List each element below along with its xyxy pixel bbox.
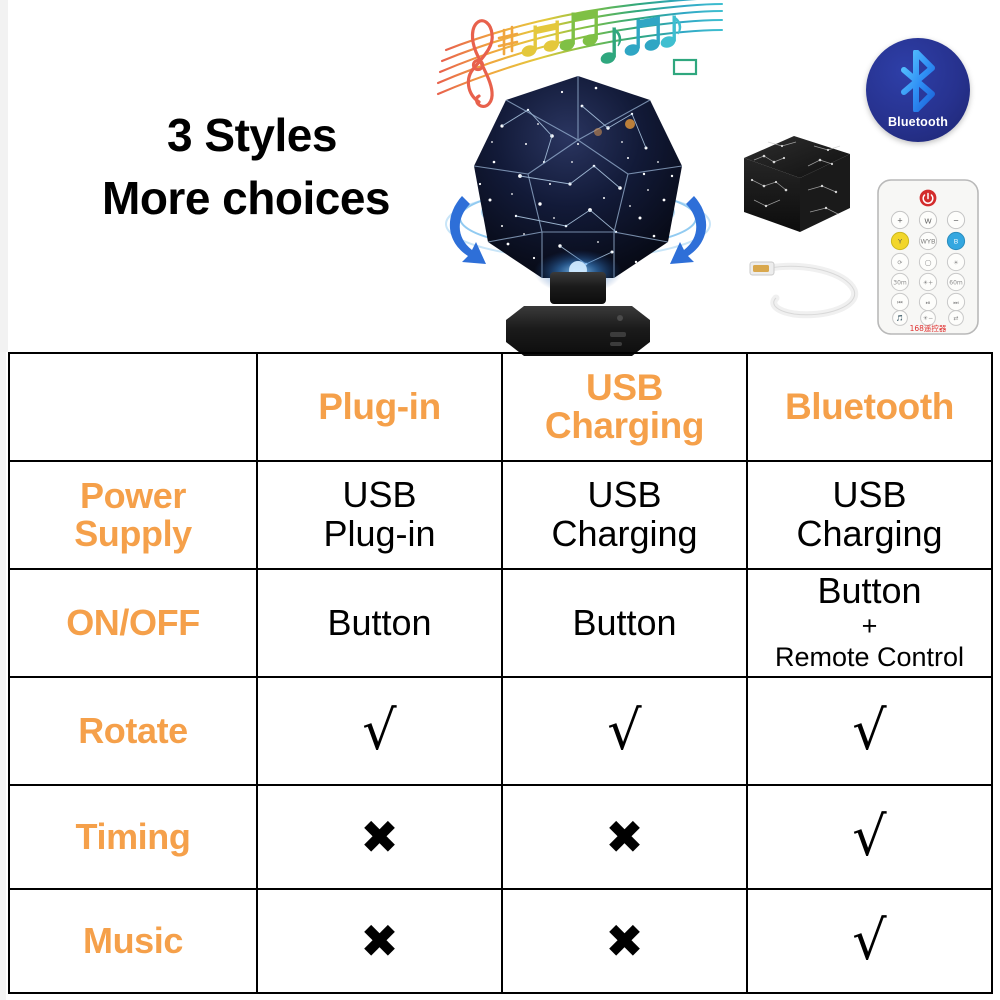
bluetooth-badge-label: Bluetooth xyxy=(866,115,970,129)
cell-power-supply-usb-charging: USB Charging xyxy=(502,461,747,569)
cell-on-off-usb-charging: Button xyxy=(502,569,747,677)
column-header-bluetooth: Bluetooth xyxy=(747,353,992,461)
cell-rotate-bluetooth: √ xyxy=(747,677,992,785)
headline-line-2: More choices xyxy=(46,167,446,230)
cell-line2: Charging xyxy=(507,515,742,554)
hero-banner: 3 Styles More choices xyxy=(0,0,1000,352)
cell-music-bluetooth: √ xyxy=(747,889,992,993)
table-row-music: Music ✖ ✖ √ xyxy=(9,889,992,993)
svg-text:⏭: ⏭ xyxy=(953,299,959,306)
cell-line2: Plug-in xyxy=(262,515,497,554)
svg-text:⇄: ⇄ xyxy=(953,315,958,322)
headline-line-1: 3 Styles xyxy=(46,104,446,167)
row-label-on-off: ON/OFF xyxy=(9,569,257,677)
gift-box-graphic xyxy=(738,128,856,238)
svg-text:WYB: WYB xyxy=(921,239,936,246)
svg-text:☀−: ☀− xyxy=(923,315,933,322)
table-corner-cell xyxy=(9,353,257,461)
cell-music-usb-charging: ✖ xyxy=(502,889,747,993)
comparison-table: Plug-in USB Charging Bluetooth Power Sup… xyxy=(8,352,993,994)
table-row-on-off: ON/OFF Button Button Button + Remote Con… xyxy=(9,569,992,677)
svg-text:−: − xyxy=(953,216,958,226)
cell-on-off-plug-in: Button xyxy=(257,569,502,677)
svg-text:60m: 60m xyxy=(949,279,963,286)
remote-control-graphic: +W− Y WYB B ⟳◯☀ 30m☀+60m ⏮⏯⏭ 🎵☀−⇄ 168遥控器 xyxy=(876,178,980,336)
remote-model-label: 168遥控器 xyxy=(910,323,947,333)
bluetooth-icon xyxy=(892,50,944,112)
table-row-timing: Timing ✖ ✖ √ xyxy=(9,785,992,889)
column-header-plug-in: Plug-in xyxy=(257,353,502,461)
table-header-row: Plug-in USB Charging Bluetooth xyxy=(9,353,992,461)
column-header-usb-charging-line2: Charging xyxy=(507,407,742,445)
page-title: 3 Styles More choices xyxy=(46,104,446,229)
cell-rotate-plug-in: √ xyxy=(257,677,502,785)
cell-line1: Button xyxy=(752,572,987,611)
row-label-rotate: Rotate xyxy=(9,677,257,785)
cell-line2: Charging xyxy=(752,515,987,554)
cell-power-supply-plug-in: USB Plug-in xyxy=(257,461,502,569)
cell-line2: + xyxy=(752,611,987,642)
cell-timing-plug-in: ✖ xyxy=(257,785,502,889)
row-label-power-supply-line1: Power xyxy=(14,477,252,515)
svg-text:30m: 30m xyxy=(893,279,907,286)
table-row-rotate: Rotate √ √ √ xyxy=(9,677,992,785)
svg-text:B: B xyxy=(954,239,958,246)
column-header-usb-charging-line1: USB xyxy=(507,369,742,407)
svg-text:+: + xyxy=(897,216,902,226)
cell-music-plug-in: ✖ xyxy=(257,889,502,993)
svg-text:🎵: 🎵 xyxy=(896,314,903,322)
svg-text:Y: Y xyxy=(898,239,903,246)
svg-text:⏯: ⏯ xyxy=(926,299,931,306)
bluetooth-badge: Bluetooth xyxy=(866,38,970,142)
svg-text:⏮: ⏮ xyxy=(897,299,903,306)
left-edge-band-lower xyxy=(0,352,6,1000)
cell-line1: USB xyxy=(752,476,987,515)
row-label-power-supply: Power Supply xyxy=(9,461,257,569)
row-label-timing: Timing xyxy=(9,785,257,889)
svg-text:☀+: ☀+ xyxy=(923,279,933,286)
column-header-usb-charging: USB Charging xyxy=(502,353,747,461)
cell-rotate-usb-charging: √ xyxy=(502,677,747,785)
svg-text:◯: ◯ xyxy=(925,259,932,266)
cell-timing-bluetooth: √ xyxy=(747,785,992,889)
row-label-power-supply-line2: Supply xyxy=(14,515,252,553)
cell-power-supply-bluetooth: USB Charging xyxy=(747,461,992,569)
table-row-power-supply: Power Supply USB Plug-in USB Charging US… xyxy=(9,461,992,569)
cell-on-off-bluetooth: Button + Remote Control xyxy=(747,569,992,677)
row-label-music: Music xyxy=(9,889,257,993)
cell-line3: Remote Control xyxy=(752,642,987,673)
svg-text:W: W xyxy=(924,217,932,226)
cell-timing-usb-charging: ✖ xyxy=(502,785,747,889)
cell-line1: USB xyxy=(507,476,742,515)
star-projector-lamp xyxy=(432,66,724,356)
svg-text:⟳: ⟳ xyxy=(897,259,902,266)
usb-cable-graphic xyxy=(742,248,872,328)
cell-line1: USB xyxy=(262,476,497,515)
svg-text:☀: ☀ xyxy=(953,259,959,266)
